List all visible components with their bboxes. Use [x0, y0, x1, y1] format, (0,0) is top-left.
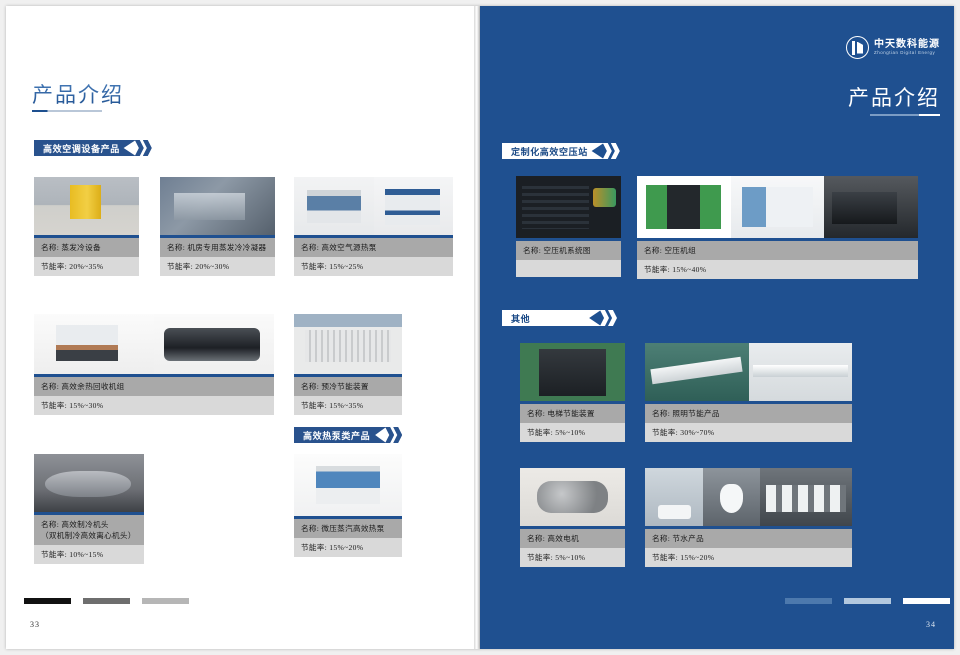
card-name-line1: 名称: 高效制冷机头 — [41, 520, 109, 529]
product-card[interactable]: 名称: 机房专用蒸发冷冷凝器 节能率: 20%~30% — [160, 177, 275, 276]
card-name-line2: （双机制冷高效离心机头） — [41, 530, 137, 541]
chevron-right-icon — [608, 310, 617, 326]
product-photo — [516, 176, 621, 238]
section-header-other: 其他 — [502, 310, 617, 326]
product-photo — [374, 177, 454, 235]
product-photo — [760, 468, 852, 526]
product-photo — [34, 177, 139, 235]
card-name: 名称: 高效制冷机头 （双机制冷高效离心机头） — [34, 515, 144, 545]
title-underline-left — [32, 110, 102, 112]
card-efficiency: 节能率: 15%~35% — [294, 396, 402, 415]
progress-bar-segment — [844, 598, 891, 604]
card-images — [294, 314, 402, 374]
chevron-right-icon — [393, 427, 402, 443]
product-photo — [824, 176, 918, 238]
right-page: 中天数科能源 Zhongtian Digital Energy 产品介绍 定制化… — [480, 6, 954, 649]
product-card[interactable]: 名称: 空压机组 节能率: 15%~40% — [637, 176, 918, 279]
card-efficiency: 节能率: 5%~10% — [520, 548, 625, 567]
card-images — [516, 176, 621, 238]
card-efficiency: 节能率: 15%~25% — [294, 257, 453, 276]
card-name: 名称: 电梯节能装置 — [520, 404, 625, 423]
product-card[interactable]: 名称: 高效电机 节能率: 5%~10% — [520, 468, 625, 567]
card-images — [34, 177, 139, 235]
product-photo — [34, 454, 144, 512]
product-photo — [34, 314, 154, 374]
chevron-right-icon — [611, 143, 620, 159]
card-images — [520, 343, 625, 401]
product-photo — [645, 343, 749, 401]
product-photo — [520, 468, 625, 526]
progress-indicator-left — [24, 598, 189, 604]
product-photo — [703, 468, 761, 526]
section-header-hvac: 高效空调设备产品 — [34, 140, 152, 156]
card-efficiency: 节能率: 5%~10% — [520, 423, 625, 442]
logo-name-en: Zhongtian Digital Energy — [874, 51, 940, 56]
section-label: 定制化高效空压站 — [502, 143, 604, 159]
card-name: 名称: 蒸发冷设备 — [34, 238, 139, 257]
card-efficiency: 节能率: 15%~20% — [645, 548, 852, 567]
card-images — [294, 177, 453, 235]
card-efficiency: 节能率: 30%~70% — [645, 423, 852, 442]
product-photo — [154, 314, 274, 374]
product-card[interactable]: 名称: 高效余热回收机组 节能率: 15%~30% — [34, 314, 274, 415]
card-name: 名称: 高效电机 — [520, 529, 625, 548]
progress-indicator-right — [785, 598, 950, 604]
card-efficiency: 节能率: 15%~30% — [34, 396, 274, 415]
section-label: 高效热泵类产品 — [294, 427, 386, 443]
product-photo — [731, 176, 825, 238]
progress-bar-segment — [903, 598, 950, 604]
card-images — [645, 468, 852, 526]
product-card[interactable]: 名称: 预冷节能装置 节能率: 15%~35% — [294, 314, 402, 415]
card-efficiency — [516, 260, 621, 277]
product-photo — [645, 468, 703, 526]
product-photo — [520, 343, 625, 401]
card-name: 名称: 空压机系统图 — [516, 241, 621, 260]
title-underline-right — [870, 114, 940, 116]
progress-bar-segment — [83, 598, 130, 604]
product-card[interactable]: 名称: 高效制冷机头 （双机制冷高效离心机头） 节能率: 10%~15% — [34, 454, 144, 564]
card-images — [637, 176, 918, 238]
card-name: 名称: 空压机组 — [637, 241, 918, 260]
card-name: 名称: 机房专用蒸发冷冷凝器 — [160, 238, 275, 257]
card-images — [520, 468, 625, 526]
card-name: 名称: 高效空气源热泵 — [294, 238, 453, 257]
product-photo — [294, 454, 402, 516]
progress-bar-segment — [24, 598, 71, 604]
left-page: 产品介绍 高效空调设备产品 名称: 蒸发冷设备 节能率: 20%~35% 名称:… — [6, 6, 480, 649]
page-number-left: 33 — [30, 620, 40, 629]
product-card[interactable]: 名称: 高效空气源热泵 节能率: 15%~25% — [294, 177, 453, 276]
product-card[interactable]: 名称: 空压机系统图 — [516, 176, 621, 277]
section-header-heatpump: 高效热泵类产品 — [294, 427, 402, 443]
page-title-right: 产品介绍 — [848, 82, 940, 112]
product-photo — [294, 314, 402, 374]
card-efficiency: 节能率: 20%~35% — [34, 257, 139, 276]
page-title-left: 产品介绍 — [32, 79, 124, 109]
product-card[interactable]: 名称: 蒸发冷设备 节能率: 20%~35% — [34, 177, 139, 276]
card-name: 名称: 微压蒸汽高效热泵 — [294, 519, 402, 538]
card-efficiency: 节能率: 20%~30% — [160, 257, 275, 276]
section-label: 高效空调设备产品 — [34, 140, 136, 156]
card-name: 名称: 预冷节能装置 — [294, 377, 402, 396]
card-images — [160, 177, 275, 235]
card-images — [34, 454, 144, 512]
product-photo — [294, 177, 374, 235]
card-name: 名称: 照明节能产品 — [645, 404, 852, 423]
card-name: 名称: 节水产品 — [645, 529, 852, 548]
product-card[interactable]: 名称: 节水产品 节能率: 15%~20% — [645, 468, 852, 567]
card-efficiency: 节能率: 15%~40% — [637, 260, 918, 279]
card-name: 名称: 高效余热回收机组 — [34, 377, 274, 396]
logo-emblem-icon — [846, 36, 869, 59]
section-label: 其他 — [502, 310, 601, 326]
product-photo — [160, 177, 275, 235]
product-card[interactable]: 名称: 电梯节能装置 节能率: 5%~10% — [520, 343, 625, 442]
card-images — [34, 314, 274, 374]
card-efficiency: 节能率: 15%~20% — [294, 538, 402, 557]
product-photo — [749, 343, 853, 401]
company-logo: 中天数科能源 Zhongtian Digital Energy — [846, 36, 940, 59]
section-header-compressor: 定制化高效空压站 — [502, 143, 620, 159]
chevron-right-icon — [143, 140, 152, 156]
product-card[interactable]: 名称: 微压蒸汽高效热泵 节能率: 15%~20% — [294, 454, 402, 557]
progress-bar-segment — [142, 598, 189, 604]
product-photo — [637, 176, 731, 238]
card-images — [645, 343, 852, 401]
progress-bar-segment — [785, 598, 832, 604]
slide-canvas: 产品介绍 高效空调设备产品 名称: 蒸发冷设备 节能率: 20%~35% 名称:… — [0, 0, 960, 655]
card-images — [294, 454, 402, 516]
product-card[interactable]: 名称: 照明节能产品 节能率: 30%~70% — [645, 343, 852, 442]
page-number-right: 34 — [926, 620, 936, 629]
card-efficiency: 节能率: 10%~15% — [34, 545, 144, 564]
